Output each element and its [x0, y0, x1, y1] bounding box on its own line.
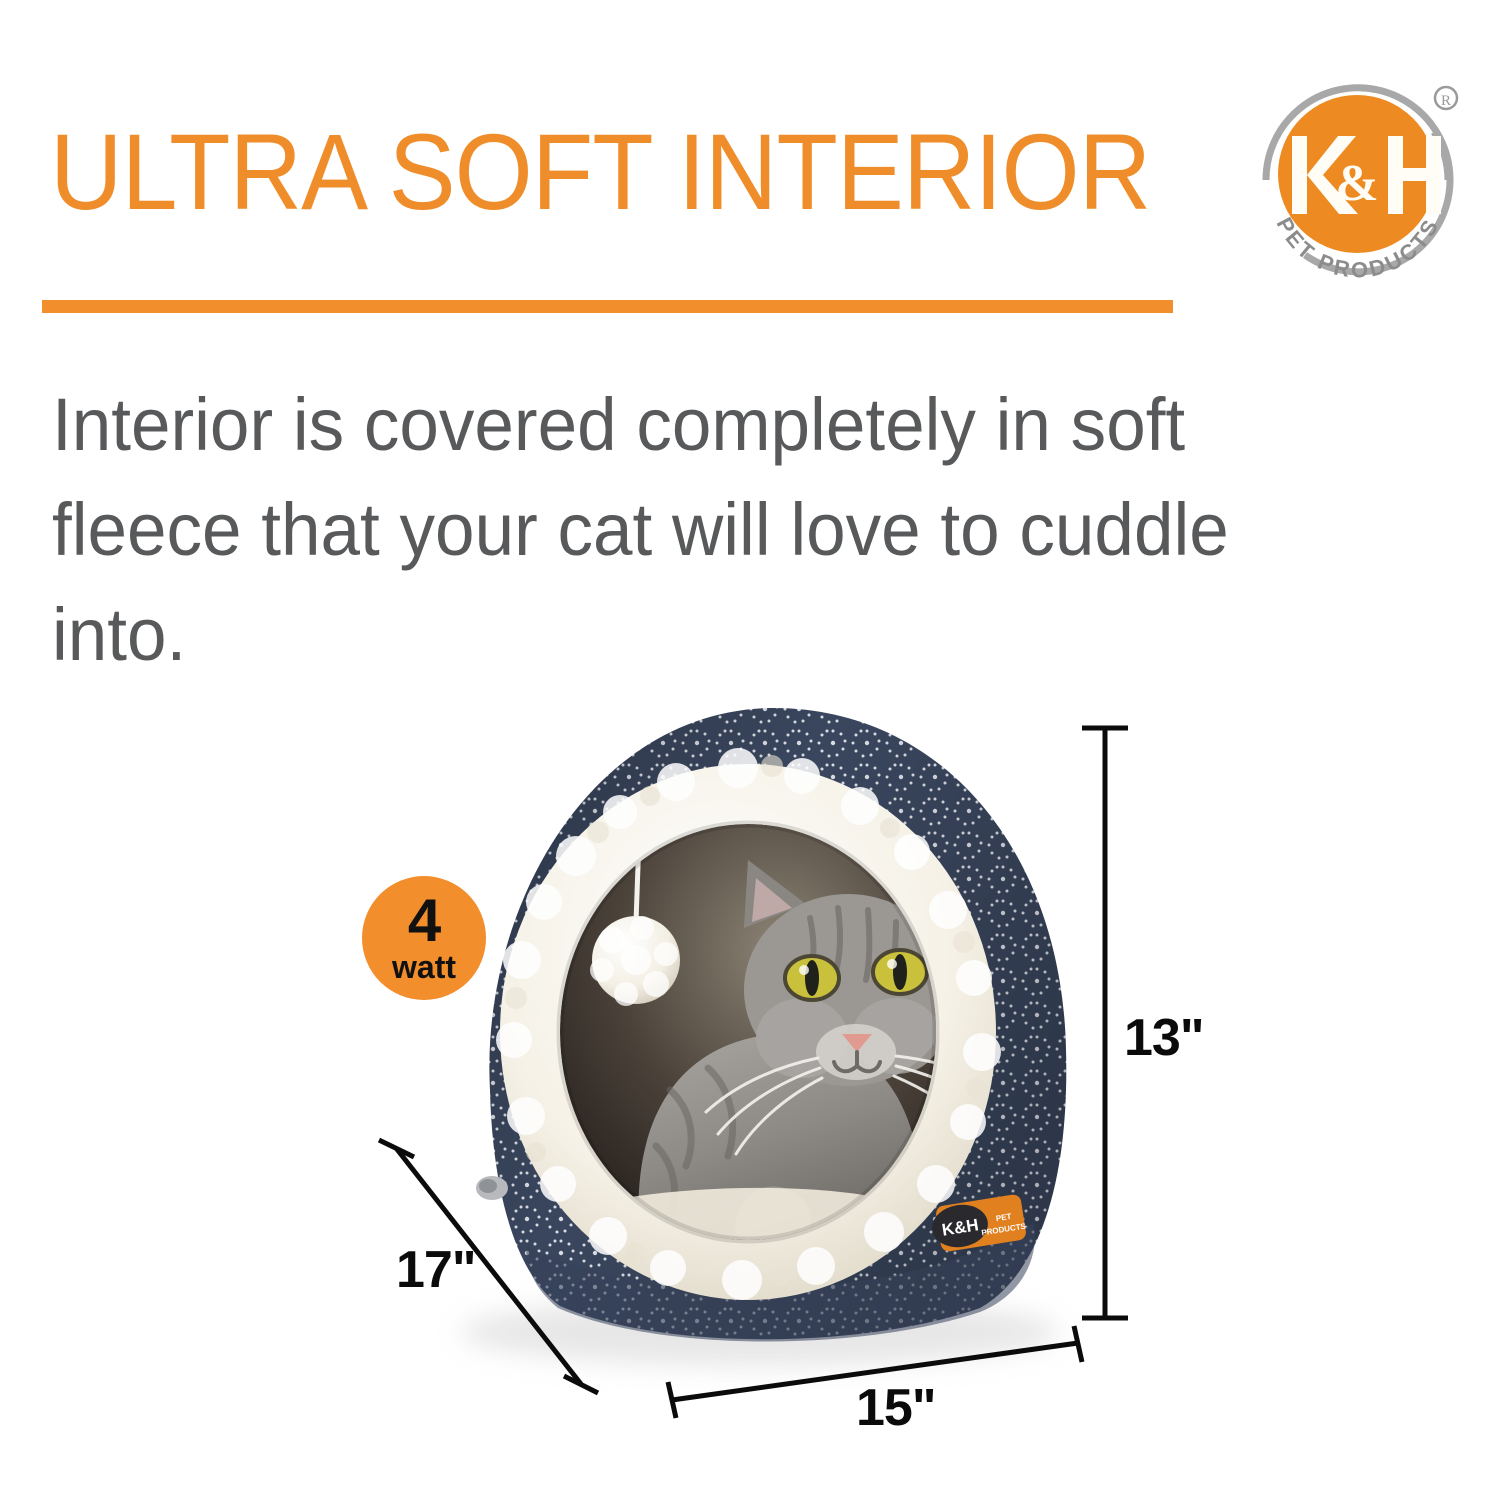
svg-text:&: &: [1335, 155, 1378, 212]
registered-trademark-icon: R: [1435, 87, 1457, 109]
product-feature-card: ULTRA SOFT INTERIOR Interior is covered …: [0, 0, 1500, 1500]
width-dimension-label: 15": [856, 1378, 936, 1438]
cat-eye-left: [785, 956, 839, 1000]
kh-pet-products-logo-icon: & PET PRODUCTS R: [1248, 58, 1466, 290]
cat-eye-right: [873, 950, 927, 994]
power-cord-connector-icon: [476, 1176, 508, 1200]
wattage-unit: watt: [392, 951, 456, 983]
page-title: ULTRA SOFT INTERIOR: [50, 118, 1150, 226]
height-dimension-label: 13": [1124, 1008, 1204, 1068]
feature-description: Interior is covered completely in soft f…: [52, 372, 1377, 687]
wattage-value: 4: [408, 893, 440, 948]
wattage-badge: 4 watt: [362, 876, 486, 1000]
depth-dimension-label: 17": [396, 1240, 476, 1300]
title-underline-rule: [42, 300, 1173, 313]
brand-logo: & PET PRODUCTS R: [1248, 58, 1466, 290]
svg-text:R: R: [1441, 93, 1451, 109]
